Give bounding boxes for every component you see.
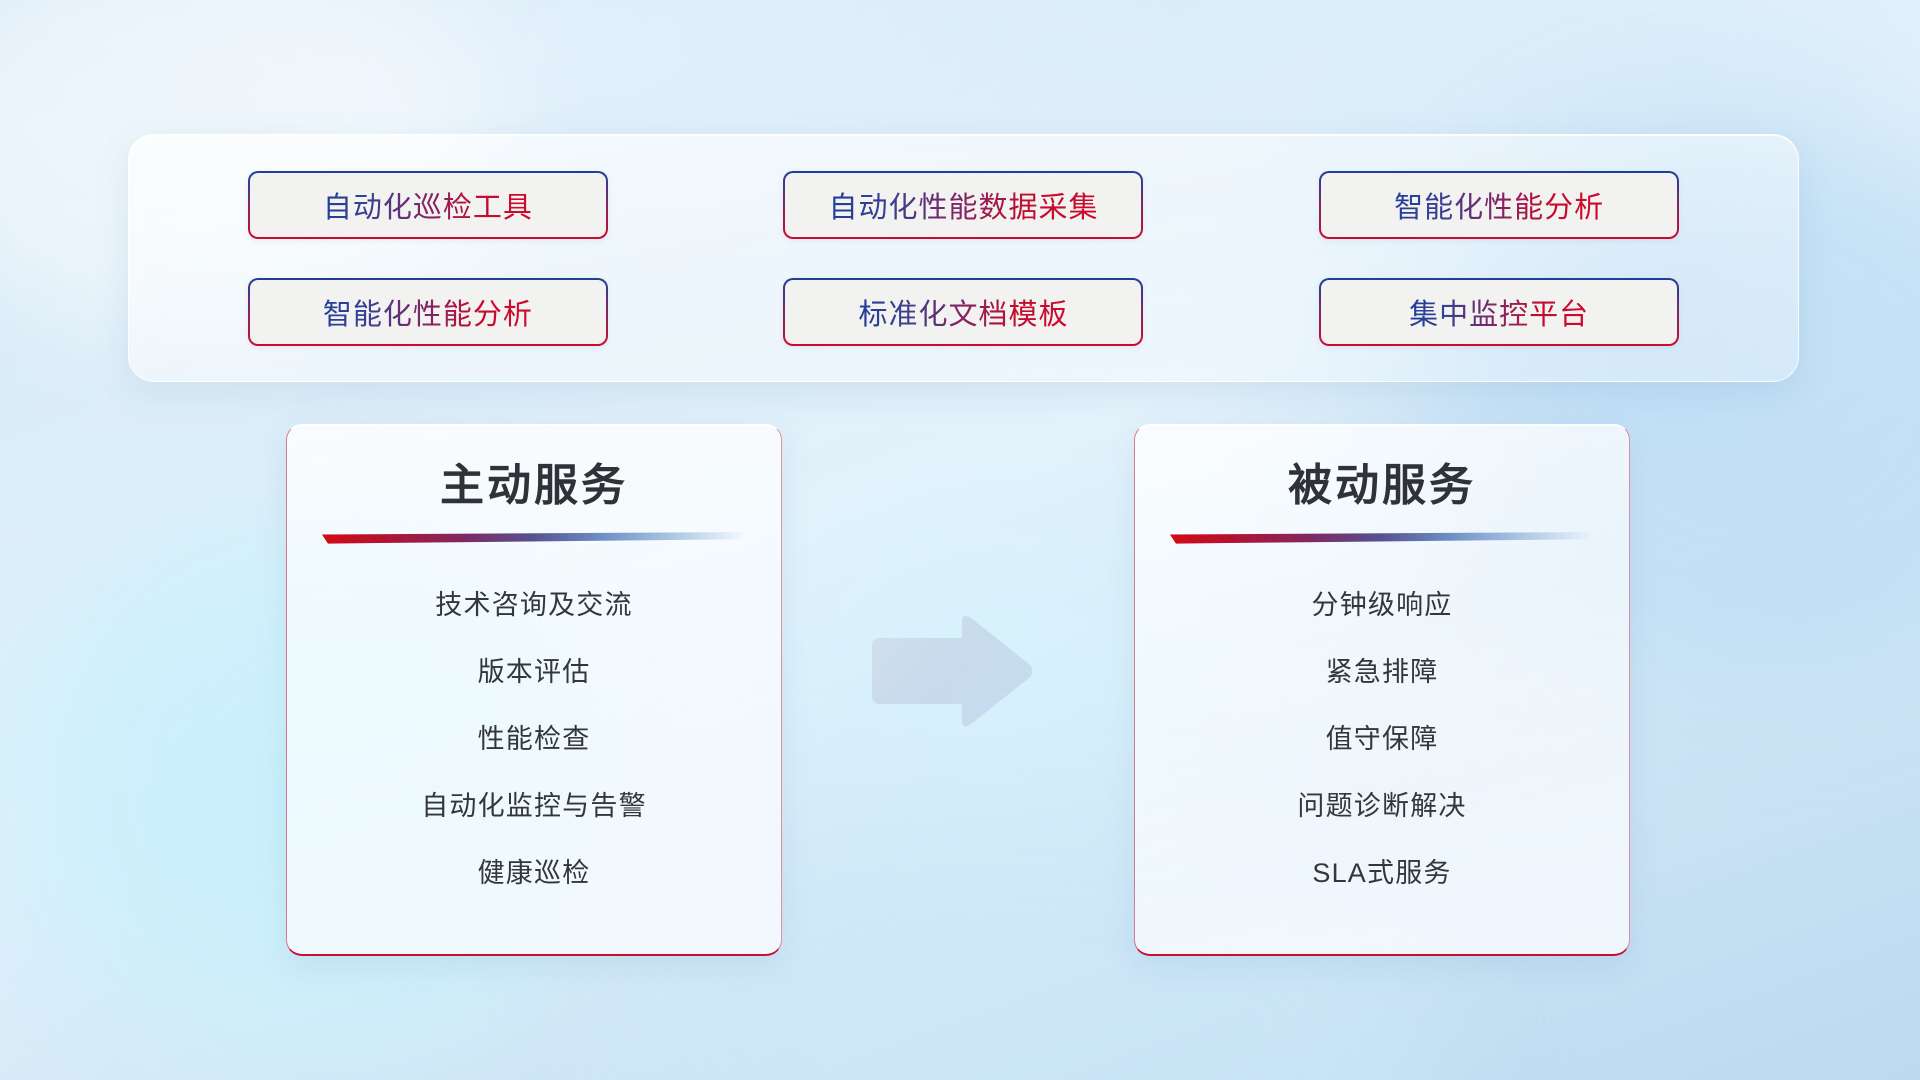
active-service-list: 技术咨询及交流 版本评估 性能检查 自动化监控与告警 健康巡检 [315, 572, 753, 907]
slide-canvas: 自动化巡检工具 自动化性能数据采集 智能化性能分析 智能化性能分析 标准化文档模… [0, 0, 1920, 1080]
list-item: 性能检查 [315, 706, 753, 773]
gradient-rule-bar [1170, 532, 1594, 544]
capability-pill-3[interactable]: 智能化性能分析 [1319, 171, 1679, 239]
passive-service-list: 分钟级响应 紧急排障 值守保障 问题诊断解决 SLA式服务 [1163, 572, 1601, 907]
capability-pill-5-inner: 标准化文档模板 [785, 280, 1141, 344]
capability-pill-4-label: 智能化性能分析 [323, 291, 533, 333]
active-service-title-rule [322, 532, 746, 544]
list-item: 健康巡检 [315, 840, 753, 907]
list-item: SLA式服务 [1163, 840, 1601, 907]
capability-pill-2-label: 自动化性能数据采集 [828, 184, 1098, 226]
list-item: 分钟级响应 [1163, 572, 1601, 639]
capability-pill-2[interactable]: 自动化性能数据采集 [783, 171, 1143, 239]
capability-panel: 自动化巡检工具 自动化性能数据采集 智能化性能分析 智能化性能分析 标准化文档模… [128, 134, 1799, 382]
capability-pill-5-label: 标准化文档模板 [858, 291, 1068, 333]
list-item: 紧急排障 [1163, 639, 1601, 706]
gradient-rule-bar [322, 532, 746, 544]
capability-pill-6-label: 集中监控平台 [1409, 291, 1589, 333]
list-item: 技术咨询及交流 [315, 572, 753, 639]
passive-service-title: 被动服务 [1288, 461, 1476, 512]
passive-service-title-rule [1170, 532, 1594, 544]
capability-pill-2-inner: 自动化性能数据采集 [785, 173, 1141, 237]
active-service-title: 主动服务 [440, 461, 628, 512]
capability-pill-6-inner: 集中监控平台 [1321, 280, 1677, 344]
list-item: 自动化监控与告警 [315, 773, 753, 840]
capability-pill-1-label: 自动化巡检工具 [323, 184, 533, 226]
capability-pill-6[interactable]: 集中监控平台 [1319, 278, 1679, 346]
capability-pill-1[interactable]: 自动化巡检工具 [248, 171, 608, 239]
capability-pill-4-inner: 智能化性能分析 [250, 280, 606, 344]
arrow-right-icon [866, 612, 1036, 730]
list-item: 问题诊断解决 [1163, 773, 1601, 840]
capability-pill-3-label: 智能化性能分析 [1394, 184, 1604, 226]
capability-pill-5[interactable]: 标准化文档模板 [783, 278, 1143, 346]
active-service-card: 主动服务 技术咨询及交流 版本评估 性能检查 自动化监控与告警 健康巡检 [286, 424, 782, 956]
capability-pill-3-inner: 智能化性能分析 [1321, 173, 1677, 237]
list-item: 值守保障 [1163, 706, 1601, 773]
list-item: 版本评估 [315, 639, 753, 706]
capability-pill-4[interactable]: 智能化性能分析 [248, 278, 608, 346]
capability-pill-1-inner: 自动化巡检工具 [250, 173, 606, 237]
passive-service-card: 被动服务 分钟级响应 紧急排障 值守保障 问题诊断解决 SLA式服务 [1134, 424, 1630, 956]
